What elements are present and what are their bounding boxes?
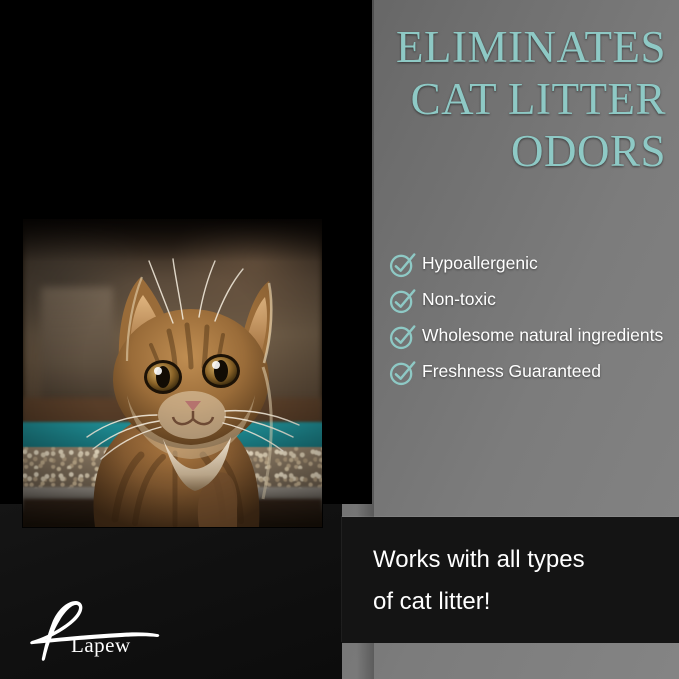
list-item: Non-toxic: [388, 286, 678, 317]
headline-line-2: CAT LITTER: [300, 74, 666, 126]
check-circle-icon: [388, 323, 422, 353]
headline-line-1: ELIMINATES: [300, 22, 666, 74]
list-item: Wholesome natural ingredients: [388, 322, 678, 353]
product-poster: ELIMINATES CAT LITTER ODORS: [0, 0, 679, 679]
feature-label: Freshness Guaranteed: [422, 358, 601, 385]
photo-canvas: [23, 219, 322, 527]
list-item: Freshness Guaranteed: [388, 358, 678, 389]
check-circle-icon: [388, 287, 422, 317]
caption-line-1: Works with all types: [373, 539, 663, 581]
feature-label: Wholesome natural ingredients: [422, 322, 663, 349]
check-circle-icon: [388, 251, 422, 281]
check-circle-icon: [388, 359, 422, 389]
kitten-litter-box-photo: [23, 219, 322, 527]
brand-logo: Lapew: [24, 598, 169, 662]
photo-kitten: [23, 219, 322, 527]
headline: ELIMINATES CAT LITTER ODORS: [300, 22, 666, 177]
feature-label: Hypoallergenic: [422, 250, 538, 277]
feature-list: Hypoallergenic Non-toxic Wholesome natur…: [388, 250, 678, 394]
headline-line-3: ODORS: [300, 126, 666, 178]
feature-label: Non-toxic: [422, 286, 496, 313]
brand-wordmark: Lapew: [71, 635, 131, 656]
list-item: Hypoallergenic: [388, 250, 678, 281]
caption-text: Works with all types of cat litter!: [373, 539, 663, 623]
caption-box: Works with all types of cat litter!: [342, 517, 679, 643]
caption-line-2: of cat litter!: [373, 581, 663, 623]
